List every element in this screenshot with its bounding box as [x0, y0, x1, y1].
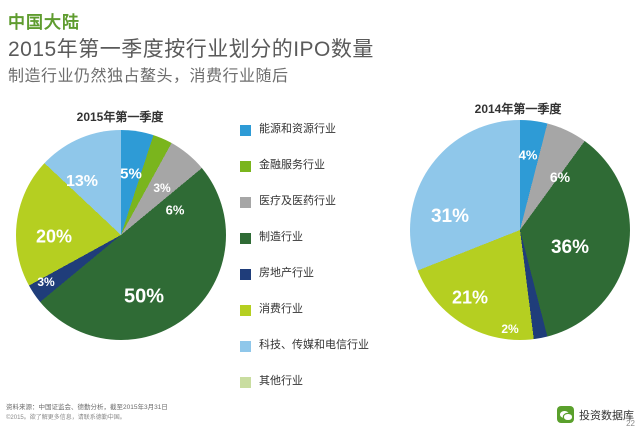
pie-2015-label-3: 50% — [124, 286, 164, 309]
legend-label-healthcare: 医疗及医药行业 — [259, 195, 336, 208]
legend-label-realestate: 房地产行业 — [259, 267, 314, 280]
legend-item: 房地产行业 — [240, 256, 400, 292]
pie-2015-label-2: 6% — [166, 203, 185, 218]
legend-label-tmt: 科技、传媒和电信行业 — [259, 339, 369, 352]
wechat-icon — [557, 406, 574, 423]
pie-2014-label-3: 2% — [501, 322, 518, 336]
brand-title: 中国大陆 — [8, 8, 80, 33]
chart-2015-pie: 5% 3% 6% 50% 3% 20% 13% — [16, 130, 226, 340]
slide-header: 中国大陆 2015年第一季度按行业划分的IPO数量 制造行业仍然独占鳌头，消费行… — [0, 0, 640, 97]
legend-item: 其他行业 — [240, 364, 400, 400]
legend-swatch-realestate — [240, 269, 251, 280]
legend-item: 消费行业 — [240, 292, 400, 328]
legend-item: 金融服务行业 — [240, 148, 400, 184]
pie-2015-label-4: 3% — [37, 275, 54, 289]
chart-2014-title: 2014年第一季度 — [418, 100, 618, 117]
legend-label-other: 其他行业 — [259, 375, 303, 388]
legend-item: 制造行业 — [240, 220, 400, 256]
page-subtitle: 制造行业仍然独占鳌头，消费行业随后 — [8, 62, 289, 86]
legend-label-energy: 能源和资源行业 — [259, 123, 336, 136]
legend-label-consumer: 消费行业 — [259, 303, 303, 316]
pie-2014-label-2: 36% — [551, 237, 589, 259]
legend-swatch-healthcare — [240, 197, 251, 208]
legend-item: 科技、传媒和电信行业 — [240, 328, 400, 364]
source-note: 资料来源：中国证监会、德勤分析，截至2015年3月31日 — [6, 403, 168, 413]
pie-2015-label-5: 20% — [36, 227, 72, 248]
page-number: 22 — [626, 419, 635, 428]
copyright-note: ©2015。欲了解更多信息，请联系德勤中国。 — [6, 414, 126, 423]
chart-legend: 能源和资源行业 金融服务行业 医疗及医药行业 制造行业 房地产行业 消费行业 科… — [240, 112, 400, 400]
legend-item: 医疗及医药行业 — [240, 184, 400, 220]
legend-item: 能源和资源行业 — [240, 112, 400, 148]
legend-label-manufacturing: 制造行业 — [259, 231, 303, 244]
pie-2014-label-5: 31% — [431, 206, 469, 228]
pie-2014-label-4: 21% — [452, 288, 488, 309]
slide: 中国大陆 2015年第一季度按行业划分的IPO数量 制造行业仍然独占鳌头，消费行… — [0, 0, 640, 439]
legend-swatch-finance — [240, 161, 251, 172]
pie-2014-label-1: 6% — [550, 169, 570, 185]
pie-2015-label-6: 13% — [66, 173, 98, 191]
wechat-badge: 投资数据库 — [557, 406, 634, 423]
legend-swatch-consumer — [240, 305, 251, 316]
legend-label-finance: 金融服务行业 — [259, 159, 325, 172]
chart-2015: 2015年第一季度 5% 3% 6% 50% 3% 20% 13% — [8, 108, 233, 398]
pie-2015-label-1: 3% — [153, 181, 170, 195]
legend-swatch-energy — [240, 125, 251, 136]
pie-2015-label-0: 5% — [120, 166, 142, 183]
chart-2014-pie: 4% 6% 36% 2% 21% 31% — [410, 120, 630, 340]
legend-swatch-manufacturing — [240, 233, 251, 244]
chart-2015-title: 2015年第一季度 — [20, 108, 220, 125]
chart-2014: 2014年第一季度 4% 6% 36% 2% 21% 31% — [400, 100, 635, 400]
legend-swatch-other — [240, 377, 251, 388]
page-title: 2015年第一季度按行业划分的IPO数量 — [8, 33, 374, 63]
legend-swatch-tmt — [240, 341, 251, 352]
pie-2014-label-0: 4% — [519, 148, 538, 163]
